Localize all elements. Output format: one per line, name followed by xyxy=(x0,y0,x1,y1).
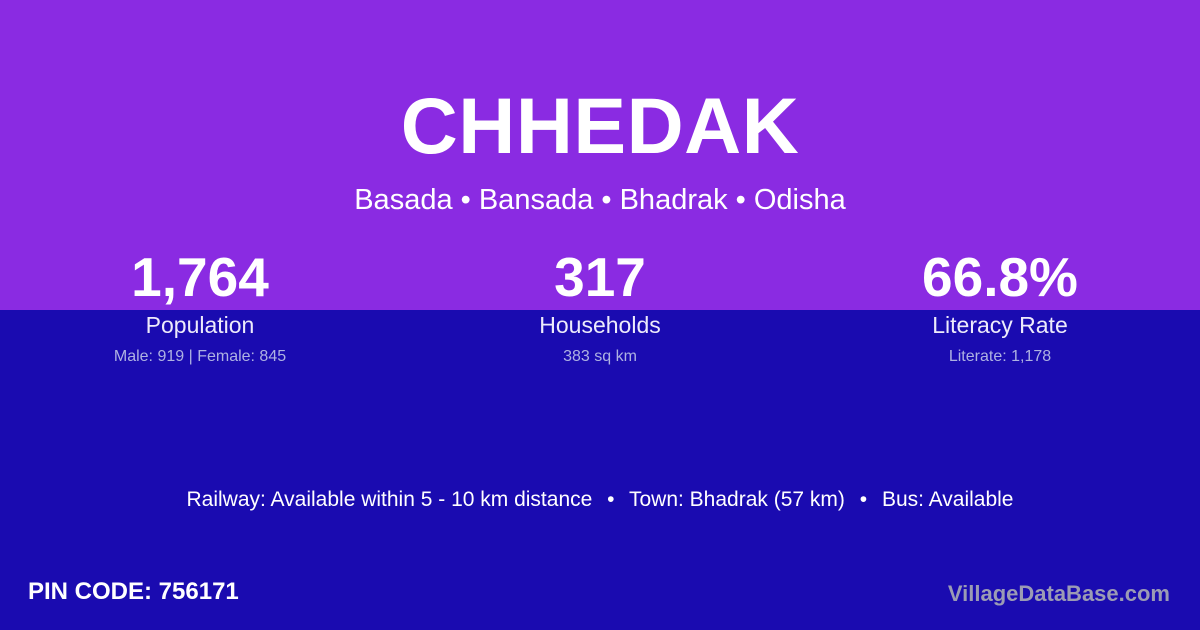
infrastructure-nearest-town: Town: Bhadrak (57 km) xyxy=(629,488,845,511)
stat-households-label: Households xyxy=(400,311,800,339)
bullet-separator-icon: • xyxy=(598,488,623,511)
stat-population-subtext: Male: 919 | Female: 845 xyxy=(0,347,400,367)
breadcrumb: Basada • Bansada • Bhadrak • Odisha xyxy=(0,183,1200,217)
pin-code-label: PIN CODE: 756171 xyxy=(28,577,239,607)
stat-households-subtext: 383 sq km xyxy=(400,347,800,367)
bullet-separator-icon: • xyxy=(851,488,876,511)
stat-households-value: 317 xyxy=(400,245,800,309)
page-title: CHHEDAK xyxy=(0,84,1200,168)
stat-population: 1,764 Population Male: 919 | Female: 845 xyxy=(0,245,400,367)
infrastructure-bus: Bus: Available xyxy=(882,488,1014,511)
stat-population-label: Population xyxy=(0,311,400,339)
village-info-card: CHHEDAK Basada • Bansada • Bhadrak • Odi… xyxy=(0,0,1200,630)
stat-population-value: 1,764 xyxy=(0,245,400,309)
statistics-row: 1,764 Population Male: 919 | Female: 845… xyxy=(0,245,1200,367)
stat-literacy-rate: 66.8% Literacy Rate Literate: 1,178 xyxy=(800,245,1200,367)
infrastructure-railway: Railway: Available within 5 - 10 km dist… xyxy=(187,488,593,511)
stat-households: 317 Households 383 sq km xyxy=(400,245,800,367)
stat-literacy-rate-value: 66.8% xyxy=(800,245,1200,309)
site-brand-watermark: VillageDataBase.com xyxy=(948,580,1170,608)
stat-literacy-rate-subtext: Literate: 1,178 xyxy=(800,347,1200,367)
infrastructure-summary: Railway: Available within 5 - 10 km dist… xyxy=(0,486,1200,514)
stat-literacy-rate-label: Literacy Rate xyxy=(800,311,1200,339)
